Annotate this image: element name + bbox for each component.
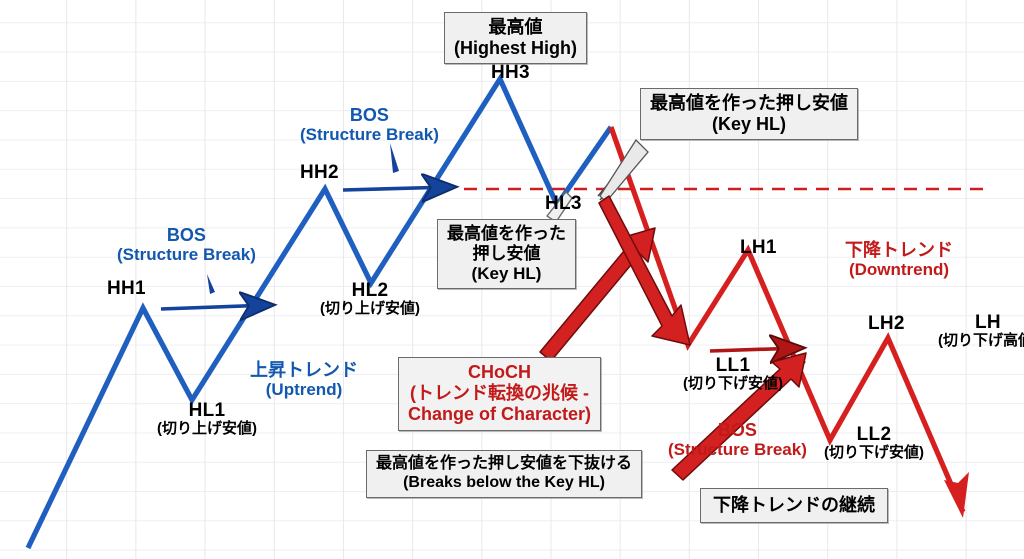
label-hh3: HH3 bbox=[491, 62, 530, 83]
label-hh2: HH2 bbox=[300, 162, 339, 183]
label-ll1: LL1 (切り下げ安値) bbox=[683, 355, 783, 393]
bos2-pointer bbox=[390, 143, 399, 173]
label-hl3: HL3 bbox=[545, 193, 582, 214]
key-hl-right-leader-tail bbox=[600, 140, 648, 202]
bos2-arrow bbox=[343, 187, 452, 190]
annotation-bos-2: BOS (Structure Break) bbox=[300, 105, 439, 144]
label-lh2: LH2 bbox=[868, 313, 905, 334]
box-breaks-key-hl: 最高値を作った押し安値を下抜ける (Breaks below the Key H… bbox=[366, 450, 642, 498]
label-ll2: LL2 (切り下げ安値) bbox=[824, 424, 924, 462]
label-hl2: HL2 (切り上げ安値) bbox=[320, 280, 420, 318]
box-key-hl-left: 最高値を作った 押し安値 (Key HL) bbox=[437, 219, 576, 289]
annotation-bos-3: BOS (Structure Break) bbox=[668, 420, 807, 459]
annotation-uptrend: 上昇トレンド (Uptrend) bbox=[250, 360, 358, 399]
label-lh1: LH1 bbox=[740, 237, 777, 258]
bos3-arrow bbox=[710, 348, 800, 351]
annotation-downtrend: 下降トレンド (Downtrend) bbox=[845, 240, 953, 279]
label-lh: LH (切り下げ高値) bbox=[938, 312, 1024, 350]
box-highest-high: 最高値 (Highest High) bbox=[444, 12, 587, 64]
box-key-hl-right: 最高値を作った押し安値 (Key HL) bbox=[640, 88, 858, 140]
box-downtrend-continues: 下降トレンドの継続 bbox=[700, 488, 888, 523]
label-hl1: HL1 (切り上げ安値) bbox=[157, 400, 257, 438]
bos1-pointer bbox=[207, 274, 215, 294]
label-hh1: HH1 bbox=[107, 278, 146, 299]
bos1-arrow bbox=[161, 305, 270, 309]
chart-canvas: HH1 HL1 (切り上げ安値) HH2 HL2 (切り上げ安値) HH3 HL… bbox=[0, 0, 1024, 559]
annotation-bos-1: BOS (Structure Break) bbox=[117, 225, 256, 264]
box-choch: CHoCH (トレンド転換の兆候 - Change of Character) bbox=[398, 357, 601, 431]
